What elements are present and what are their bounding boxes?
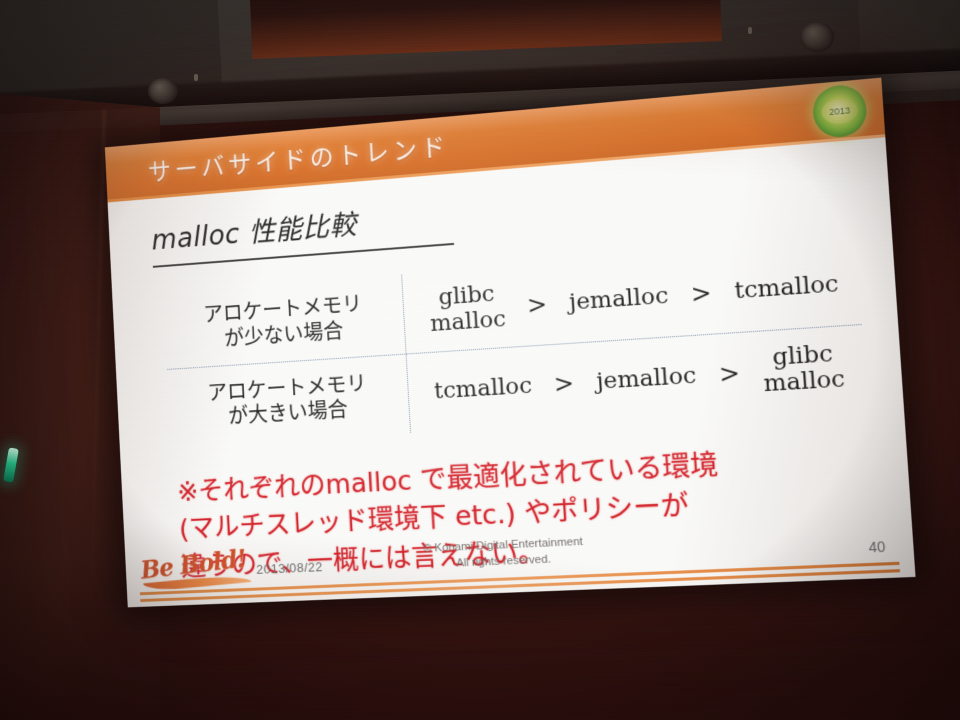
conference-badge-icon: 2013 bbox=[812, 83, 868, 139]
malloc-comparison-table: アロケートメモリ が少ない場合 glibcmalloc > jemalloc >… bbox=[163, 241, 867, 446]
term: tcmalloc bbox=[734, 270, 840, 304]
operator: > bbox=[686, 278, 717, 309]
projection-area: サーバサイドのトレンド 2013 malloc 性能比較 アロケートメモリ が少… bbox=[0, 0, 960, 720]
term: jemalloc bbox=[596, 363, 698, 395]
row-label: アロケートメモリ が大きい場合 bbox=[167, 354, 410, 447]
operator: > bbox=[714, 359, 745, 389]
operator: > bbox=[522, 290, 552, 320]
term: jemalloc bbox=[568, 282, 669, 315]
term: glibcmalloc bbox=[761, 340, 846, 398]
term: tcmalloc bbox=[433, 373, 532, 405]
projection-screen: サーバサイドのトレンド 2013 malloc 性能比較 アロケートメモリ が少… bbox=[105, 78, 916, 608]
operator: > bbox=[549, 369, 579, 399]
section-heading: malloc 性能比較 bbox=[151, 203, 358, 265]
term: glibcmalloc bbox=[428, 281, 507, 337]
footer-page-number: 40 bbox=[868, 538, 886, 555]
badge-label: 2013 bbox=[821, 97, 859, 125]
